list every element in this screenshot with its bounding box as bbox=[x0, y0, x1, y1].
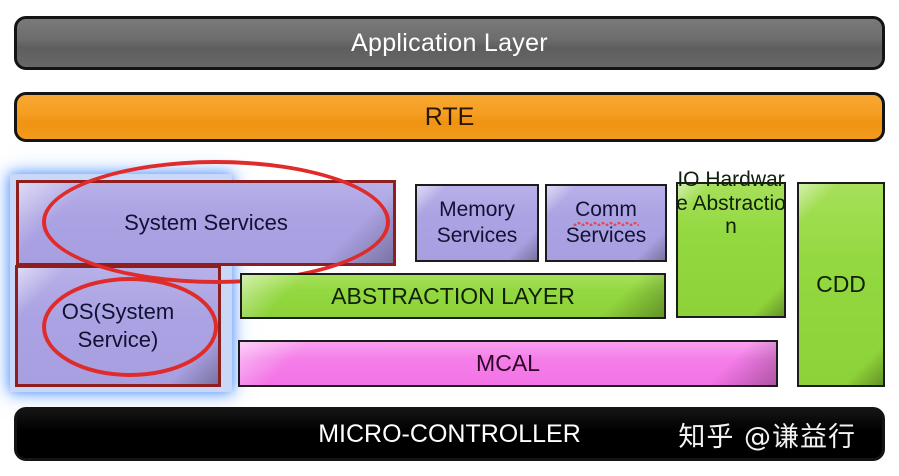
layer-rte[interactable]: RTE bbox=[14, 92, 885, 142]
bsw-comm-line-2: Services bbox=[566, 224, 647, 247]
bsw-mcal[interactable]: MCAL bbox=[238, 340, 778, 387]
bsw-memory-line-1: Memory bbox=[439, 198, 515, 221]
layer-application-label: Application Layer bbox=[351, 29, 548, 58]
bsw-mcal-label: MCAL bbox=[476, 351, 540, 376]
layer-rte-label: RTE bbox=[425, 103, 475, 132]
bsw-comm-services-label: Comm Services bbox=[566, 197, 647, 250]
bsw-cdd[interactable]: CDD bbox=[797, 182, 885, 387]
bsw-memory-services-label: Memory Services bbox=[437, 197, 518, 250]
bsw-io-hardware-abstraction[interactable]: IO Hardware Abstraction bbox=[676, 182, 786, 318]
bsw-os-system-service-label: OS(System Service) bbox=[62, 298, 174, 353]
bsw-memory-services[interactable]: Memory Services bbox=[415, 184, 539, 262]
layer-microcontroller[interactable]: MICRO-CONTROLLER 知乎 @谦益行 bbox=[14, 407, 885, 461]
layer-application[interactable]: Application Layer bbox=[14, 16, 885, 70]
bsw-os-line-1: OS(System bbox=[62, 299, 174, 324]
zhihu-watermark: 知乎 @谦益行 bbox=[678, 415, 856, 454]
bsw-abstraction-layer[interactable]: ABSTRACTION LAYER bbox=[240, 273, 666, 319]
bsw-comm-services[interactable]: Comm Services bbox=[545, 184, 667, 262]
bsw-abstraction-layer-label: ABSTRACTION LAYER bbox=[331, 284, 575, 309]
bsw-system-services[interactable]: System Services bbox=[16, 180, 396, 265]
bsw-comm-line-1: Comm bbox=[575, 197, 637, 223]
bsw-os-system-service[interactable]: OS(System Service) bbox=[16, 265, 220, 386]
bsw-system-services-label: System Services bbox=[124, 211, 288, 235]
bsw-cdd-label: CDD bbox=[816, 272, 866, 297]
bsw-io-hardware-abstraction-label: IO Hardware Abstraction bbox=[675, 168, 787, 239]
autosar-architecture-diagram: Application Layer RTE System Services OS… bbox=[0, 0, 899, 476]
bsw-os-line-2: Service) bbox=[78, 327, 159, 352]
bsw-memory-line-2: Services bbox=[437, 224, 518, 247]
